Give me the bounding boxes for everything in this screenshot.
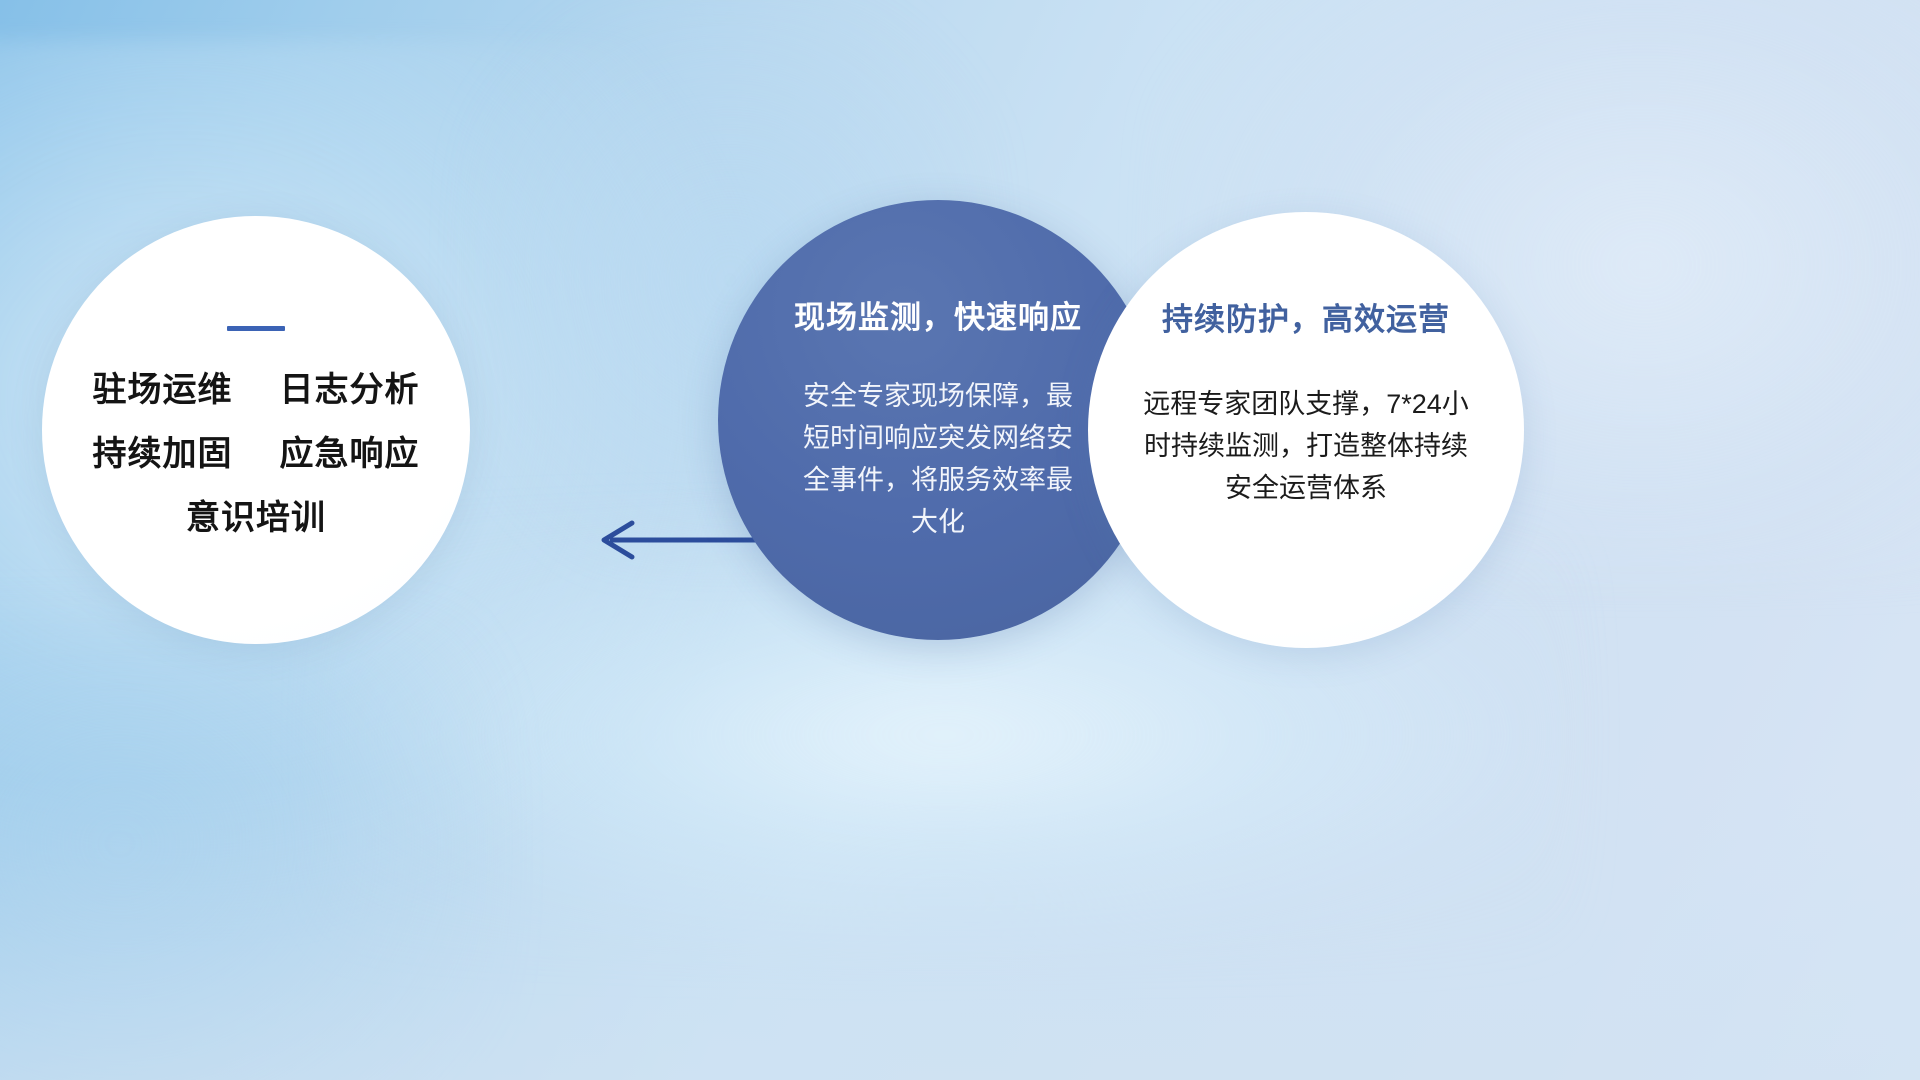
- middle-circle-body: 安全专家现场保障，最短时间响应突发网络安全事件，将服务效率最大化: [803, 375, 1073, 543]
- middle-circle-title: 现场监测，快速响应: [794, 292, 1082, 337]
- background-bottom-fade: [0, 780, 1920, 1080]
- capability-circle-left[interactable]: 驻场运维 日志分析 持续加固 应急响应 意识培训: [42, 216, 470, 644]
- right-circle-body: 远程专家团队支撑，7*24小时持续监测，打造整体持续安全运营体系: [1141, 383, 1471, 509]
- capability-label-continuous-hardening: 持续加固: [93, 435, 233, 473]
- capability-label-onsite-ops: 驻场运维: [93, 371, 233, 409]
- capability-label-awareness-training: 意识培训: [186, 499, 326, 537]
- divider-dash: [227, 326, 285, 331]
- capability-row-2: 持续加固 应急响应: [93, 437, 420, 471]
- right-circle-title: 持续防护，高效运营: [1162, 294, 1450, 339]
- capability-row-1: 驻场运维 日志分析: [93, 373, 420, 407]
- capability-label-log-analysis: 日志分析: [279, 371, 419, 409]
- capability-circle-right-content: 持续防护，高效运营 远程专家团队支撑，7*24小时持续监测，打造整体持续安全运营…: [1088, 212, 1524, 648]
- capability-circle-right[interactable]: 持续防护，高效运营 远程专家团队支撑，7*24小时持续监测，打造整体持续安全运营…: [1088, 212, 1524, 648]
- capability-row-3: 意识培训: [186, 501, 326, 535]
- slide-canvas: 驻场运维 日志分析 持续加固 应急响应 意识培训 现场监测，快速响应 安全专家现…: [0, 0, 1920, 1080]
- capability-label-emergency-response: 应急响应: [279, 435, 419, 473]
- capability-circle-left-content: 驻场运维 日志分析 持续加固 应急响应 意识培训: [42, 216, 470, 644]
